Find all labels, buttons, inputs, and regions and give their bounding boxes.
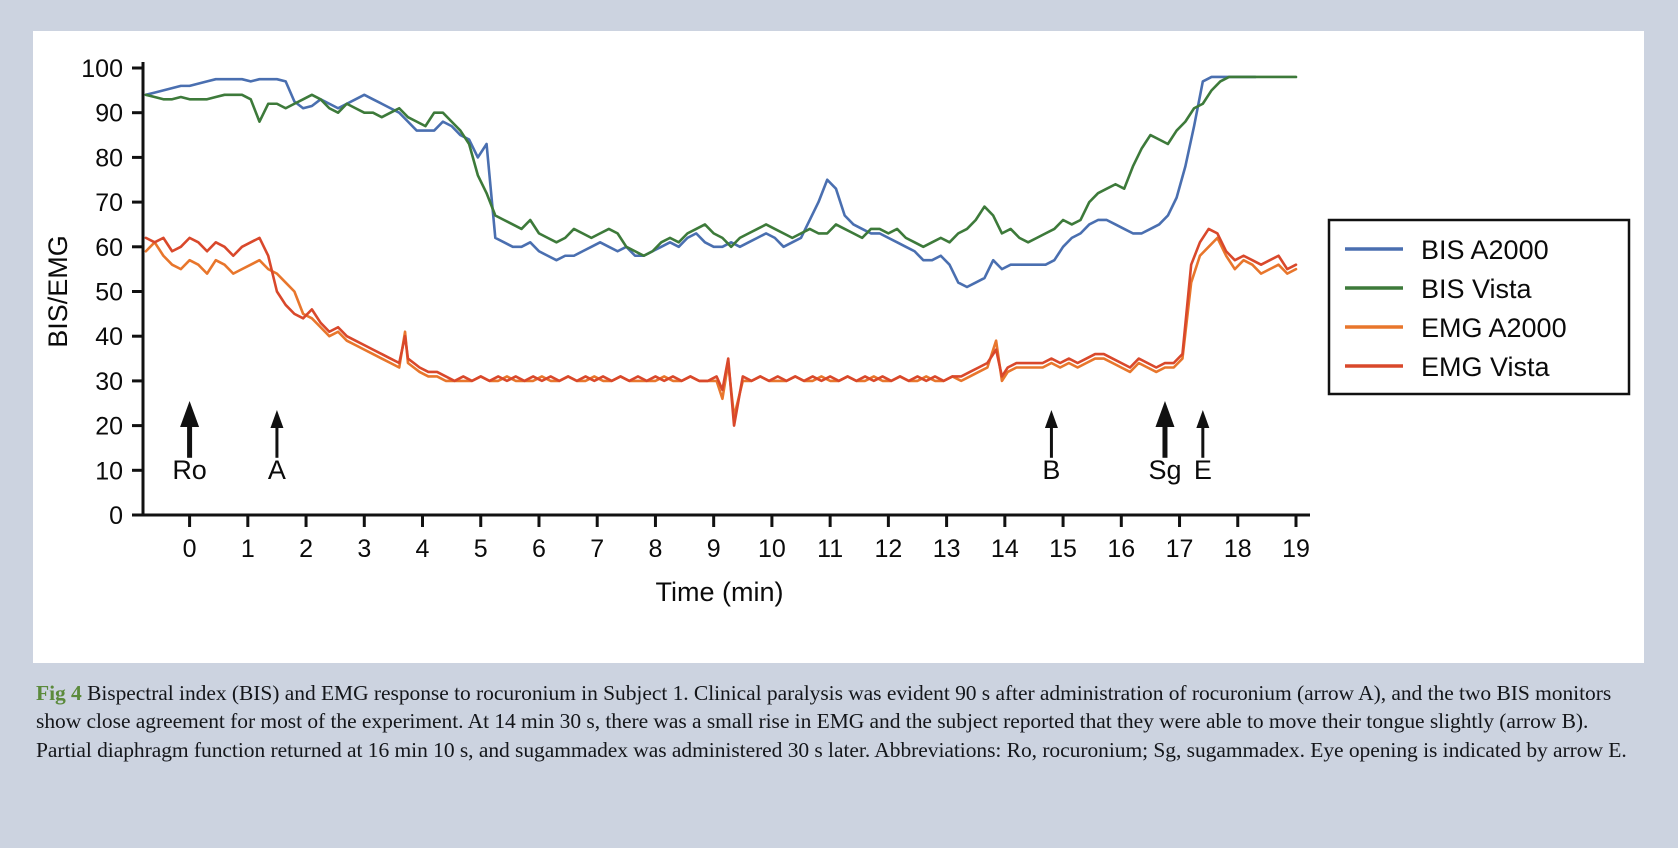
annotation-label-sg: Sg <box>1148 455 1181 485</box>
figure-caption-text: Bispectral index (BIS) and EMG response … <box>36 681 1627 762</box>
y-axis-title: BIS/EMG <box>43 235 73 348</box>
figure-root: 0102030405060708090100012345678910111213… <box>0 0 1678 848</box>
annotation-label-e: E <box>1194 455 1212 485</box>
legend-label: BIS A2000 <box>1421 235 1549 265</box>
y-axis-tick-label: 100 <box>81 55 123 83</box>
y-axis-tick-label: 20 <box>95 413 123 441</box>
x-axis-tick-label: 13 <box>933 535 961 563</box>
figure-label: Fig 4 <box>36 681 87 705</box>
x-axis-tick-label: 2 <box>299 535 313 563</box>
series-line <box>146 238 1296 417</box>
x-axis-tick-label: 15 <box>1049 535 1077 563</box>
x-axis-tick-label: 14 <box>991 535 1019 563</box>
y-axis-tick-label: 70 <box>95 189 123 217</box>
x-axis-tick-label: 17 <box>1166 535 1194 563</box>
x-axis-tick-label: 1 <box>241 535 255 563</box>
y-axis-tick-label: 90 <box>95 100 123 128</box>
x-axis-tick-label: 7 <box>590 535 604 563</box>
legend-label: BIS Vista <box>1421 274 1533 304</box>
annotation-arrow-b <box>1045 410 1058 458</box>
x-axis-tick-label: 0 <box>183 535 197 563</box>
x-axis-tick-label: 16 <box>1107 535 1135 563</box>
x-axis-tick-label: 11 <box>817 535 843 563</box>
bis-emg-line-chart: 0102030405060708090100012345678910111213… <box>33 31 1644 663</box>
annotation-arrow-a <box>270 410 283 458</box>
x-axis-title: Time (min) <box>656 577 784 607</box>
x-axis-tick-label: 9 <box>707 535 721 563</box>
x-axis-tick-label: 5 <box>474 535 488 563</box>
annotation-arrow-ro <box>180 401 199 458</box>
legend-label: EMG A2000 <box>1421 313 1567 343</box>
x-axis-tick-label: 10 <box>758 535 786 563</box>
y-axis-tick-label: 0 <box>109 502 123 530</box>
x-axis-tick-label: 3 <box>357 535 371 563</box>
y-axis-tick-label: 40 <box>95 323 123 351</box>
series-line <box>146 77 1255 287</box>
y-axis-tick-label: 80 <box>95 144 123 172</box>
x-axis-tick-label: 8 <box>648 535 662 563</box>
y-axis-tick-label: 30 <box>95 368 123 396</box>
x-axis-tick-label: 19 <box>1282 535 1310 563</box>
annotation-label-a: A <box>268 455 286 485</box>
x-axis-tick-label: 4 <box>416 535 430 563</box>
x-axis-tick-label: 18 <box>1224 535 1252 563</box>
chart-panel: 0102030405060708090100012345678910111213… <box>33 31 1644 663</box>
x-axis-tick-label: 6 <box>532 535 546 563</box>
figure-caption: Fig 4 Bispectral index (BIS) and EMG res… <box>36 679 1644 764</box>
y-axis-tick-label: 50 <box>95 279 123 307</box>
y-axis-tick-label: 10 <box>95 457 123 485</box>
annotation-arrow-e <box>1196 410 1209 458</box>
annotation-arrow-sg <box>1155 401 1174 458</box>
x-axis-tick-label: 12 <box>874 535 902 563</box>
annotation-label-b: B <box>1042 455 1060 485</box>
annotation-label-ro: Ro <box>172 455 207 485</box>
y-axis-tick-label: 60 <box>95 234 123 262</box>
legend-label: EMG Vista <box>1421 352 1551 382</box>
